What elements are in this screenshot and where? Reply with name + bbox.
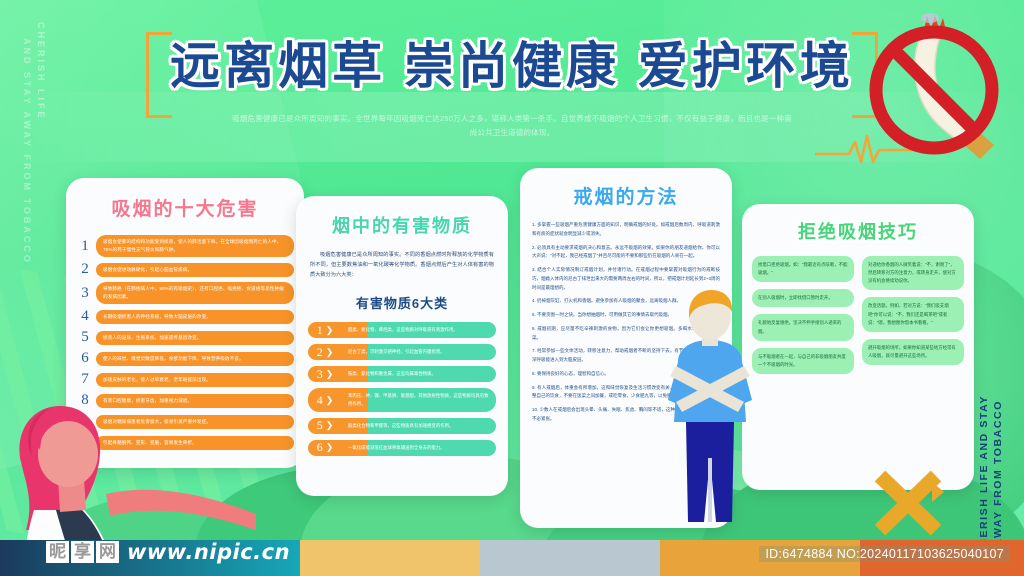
item-number: 1 ❯ — [308, 322, 342, 338]
item-number: 2 ❯ — [308, 344, 342, 360]
footer-bar-2 — [300, 540, 480, 576]
panel2-list: 1 ❯ 醛类、氮化物、烯烃类，这些物质对呼吸道有刺激作用。 2 ❯ 尼古丁类，可… — [308, 322, 496, 455]
panel-refusal-tips: 拒绝吸烟技巧 找借口拒绝吸烟。如："我最近有点咳嗽，不能吸烟。" 在别人吸烟时，… — [742, 204, 974, 490]
item-number-value: 2 — [317, 345, 323, 360]
item-number: 4 ❯ — [308, 388, 342, 412]
paragraph: 3. 结合个人实际情况制订戒烟计划，并付诸行动。在戒烟过程中要掌握对吸烟行为的戒… — [532, 266, 720, 292]
item-number: 1 — [74, 238, 96, 255]
panel2-intro: 吸烟危害健康已是众所周知的事实。不同的香烟点燃时所释放的化学物质有所不同，但主要… — [310, 250, 494, 280]
list-item: 2 ❯ 尼古丁类，可刺激交感神经，引起血管内膜损害。 — [308, 344, 496, 360]
item-text: 吸烟会促进动脉硬化，引起心脑血管疾病。 — [96, 263, 294, 277]
item-text: 损害人的泌尿、生殖系统，加速遗传基因改变。 — [96, 331, 294, 345]
chevron-right-icon: ❯ — [326, 395, 334, 406]
tip-box: 改变话题。例如，若对方说："我们吸支烟吧"你可以说："不，我们还是喝茶吧"或者说… — [862, 297, 964, 331]
list-item: 1 吸烟会使肺的结构和功能受到损害，使人的肺活量下降。在全球因吸烟而死亡的人中，… — [74, 235, 294, 257]
panel4-columns: 找借口拒绝吸烟。如："我最近有点咳嗽，不能吸烟。" 在别人吸烟时，立即找借口暂时… — [752, 256, 964, 374]
item-text: 导致肺癌（在肺癌病人中，90%的有吸烟史），还有口腔癌、喉癌癌、食道癌等恶性肿瘤… — [96, 282, 294, 304]
list-item: 6 使人的味觉、嗅觉灵敏度降低，食欲功能下降，导致营养吸收不良。 — [74, 350, 294, 367]
list-item: 7 加速皮肤的老化，使人过早衰老，老年斑提前出现。 — [74, 371, 294, 388]
item-number: 4 — [74, 308, 96, 325]
man-crossed-arms-illustration — [648, 290, 772, 530]
item-number: 5 ❯ — [308, 418, 342, 434]
item-text: 加速皮肤的老化，使人过早衰老，老年斑提前出现。 — [96, 373, 294, 387]
list-item: 4 ❯ 苯丙芘、砷、镍、甲基肼、氨基酚，其他放射性物质，这些物质均具有致癌作用。 — [308, 388, 496, 412]
watermark: 昵 享 网 www.nipic.cn — [46, 540, 290, 564]
poster-canvas: CHERISH LIFE AND STAY AWAY FROM TOBACCO … — [0, 0, 1024, 576]
watermark-logo: 昵 享 网 — [46, 541, 119, 563]
item-text: 一氧化碳能减低红血球将氧输送到全身去的能力。 — [342, 440, 496, 456]
item-number-value: 6 — [317, 440, 323, 455]
panel1-title: 吸烟的十大危害 — [66, 194, 304, 221]
item-text: 使人的味觉、嗅觉灵敏度降低，食欲功能下降，导致营养吸收不良。 — [96, 352, 294, 366]
list-item: 4 长期吸烟损害人的神经系统，导致大脑皮层的改变。 — [74, 308, 294, 325]
item-text: 酚类化合物和甲醛等，这些物质具有加速癌变的作用。 — [342, 418, 496, 434]
paragraph: 2. 必须具有主动要求戒烟的决心和意志。永远不吸烟的效果。如果你的朋友递烟给你，… — [532, 244, 720, 262]
list-item: 2 吸烟会促进动脉硬化，引起心脑血管疾病。 — [74, 261, 294, 278]
panel3-title: 戒烟的方法 — [520, 182, 732, 209]
item-text: 长期吸烟损害人的神经系统，导致大脑皮层的改变。 — [96, 310, 294, 324]
watermark-char: 网 — [96, 541, 119, 563]
item-number-value: 5 — [317, 418, 323, 433]
paragraph: 1. 多掌握一些吸烟严重危害健康方面的知识，明确戒烟的好处。如戒烟后数周内，呼吸… — [532, 221, 720, 239]
watermark-char: 昵 — [46, 541, 69, 563]
chevron-right-icon: ❯ — [326, 325, 334, 336]
item-number: 3 ❯ — [308, 366, 342, 382]
item-text: 苯丙芘、砷、镍、甲基肼、氨基酚，其他放射性物质，这些物质均具有致癌作用。 — [342, 388, 496, 412]
list-item: 5 ❯ 酚类化合物和甲醛等，这些物质具有加速癌变的作用。 — [308, 418, 496, 434]
header-subtitle: 吸烟危害健康已是众所周知的事实。全世界每年因吸烟死亡达250万人之多，堪称人类第… — [232, 112, 792, 141]
watermark-char: 享 — [71, 541, 94, 563]
item-text: 醛类、氮化物、烯烃类，这些物质对呼吸道有刺激作用。 — [342, 322, 496, 338]
item-number: 2 — [74, 261, 96, 278]
chevron-right-icon: ❯ — [326, 442, 334, 453]
panel-harmful-substances: 烟中的有害物质 吸烟危害健康已是众所周知的事实。不同的香烟点燃时所释放的化学物质… — [296, 196, 508, 496]
item-number-value: 3 — [317, 367, 323, 382]
tip-box: 避开吸烟的场所。如果你知道某些地方经常有人吸烟，就尽量避开这些场所。 — [862, 339, 964, 365]
page-title: 远离烟草 崇尚健康 爱护环境 — [170, 26, 854, 98]
item-text: 吸烟会使肺的结构和功能受到损害，使人的肺活量下降。在全球因吸烟而死亡的人中，75… — [96, 235, 294, 257]
chevron-right-icon: ❯ — [326, 420, 334, 431]
side-text-right-line1: CHERISH LIFE AND STAY — [978, 395, 990, 556]
no-smoking-icon — [864, 12, 1010, 168]
panel4-title: 拒绝吸烟技巧 — [742, 218, 974, 244]
tip-box: 对递给你香烟的人微笑着说："不，谢谢了"，然后转移对方的注意力，或转身走开，使对… — [862, 256, 964, 290]
list-item: 3 ❯ 胺类、氰化物和重金属，这些均属毒性物质。 — [308, 366, 496, 382]
panel4-column-right: 对递给你香烟的人微笑着说："不，谢谢了"，然后转移对方的注意力，或转身走开，使对… — [862, 256, 964, 374]
watermark-url: www.nipic.cn — [127, 540, 290, 564]
side-text-right-line2: AWAY FROM TOBACCO — [992, 400, 1004, 547]
item-number: 6 ❯ — [308, 440, 342, 456]
list-item: 6 ❯ 一氧化碳能减低红血球将氧输送到全身去的能力。 — [308, 440, 496, 456]
item-text: 胺类、氰化物和重金属，这些均属毒性物质。 — [342, 366, 496, 382]
tip-box: 找借口拒绝吸烟。如："我最近有点咳嗽，不能吸烟。" — [752, 256, 854, 282]
item-number-value: 1 — [317, 323, 323, 338]
footer-bar-3 — [480, 540, 660, 576]
item-text: 尼古丁类，可刺激交感神经，引起血管内膜损害。 — [342, 344, 496, 360]
item-number-value: 4 — [317, 393, 323, 408]
panel2-subtitle: 有害物质6大类 — [296, 293, 508, 312]
panel2-title: 烟中的有害物质 — [296, 212, 508, 238]
arrow-icon — [930, 480, 954, 504]
item-number: 3 — [74, 285, 96, 302]
list-item: 5 损害人的泌尿、生殖系统，加速遗传基因改变。 — [74, 329, 294, 346]
chevron-right-icon: ❯ — [326, 347, 334, 358]
list-item: 3 导致肺癌（在肺癌病人中，90%的有吸烟史），还有口腔癌、喉癌癌、食道癌等恶性… — [74, 282, 294, 304]
item-number: 6 — [74, 350, 96, 367]
item-number: 7 — [74, 371, 96, 388]
list-item: 1 ❯ 醛类、氮化物、烯烃类，这些物质对呼吸道有刺激作用。 — [308, 322, 496, 338]
image-id-text: ID:6474884 NO:20240117103625040107 — [759, 546, 1010, 562]
chevron-right-icon: ❯ — [326, 369, 334, 380]
item-number: 5 — [74, 329, 96, 346]
